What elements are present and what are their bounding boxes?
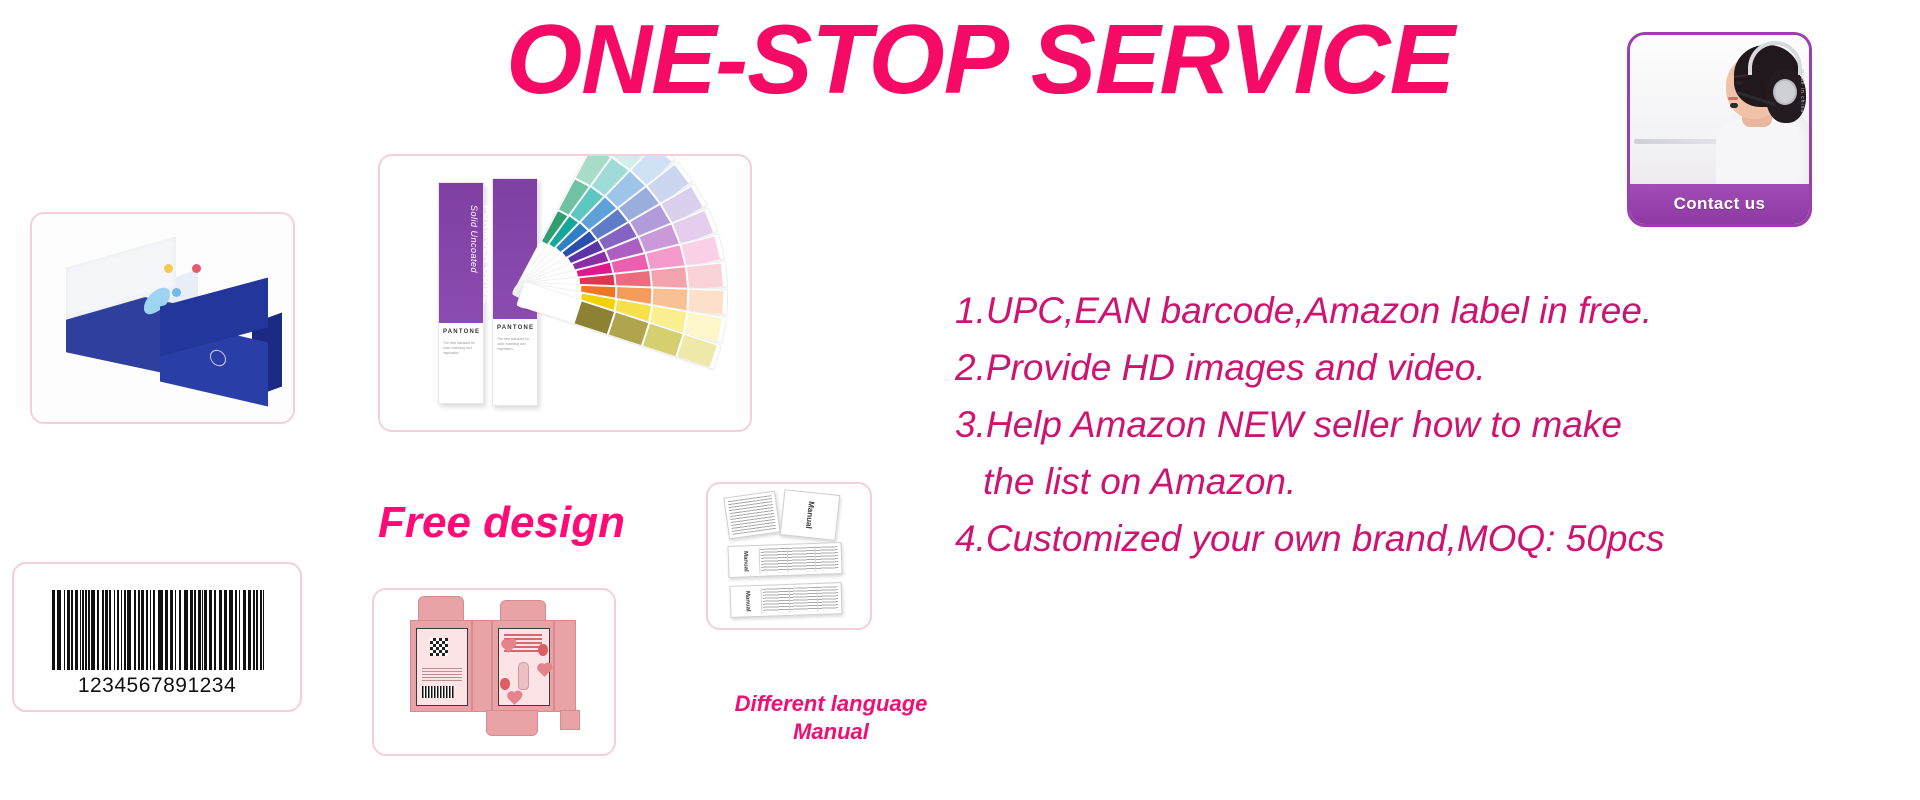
service-item-2: 2.Provide HD images and video. <box>955 349 1835 386</box>
manual-cover-label: Manual <box>804 501 816 529</box>
agent-lips <box>1728 97 1738 100</box>
manual-open-page <box>723 491 780 540</box>
manual-caption-line-1: Different language <box>706 690 956 718</box>
dieline-artwork <box>374 590 614 754</box>
dieline-side-panel-2 <box>554 620 576 712</box>
guide-subtitle-text: Solid Coated <box>413 209 426 345</box>
barcode-number: 1234567891234 <box>14 674 300 698</box>
contact-us-label: Contact us <box>1674 194 1766 214</box>
barcode-label-card: 1234567891234 <box>12 562 302 712</box>
service-item-4: 4.Customized your own brand,MOQ: 50pcs <box>955 520 1835 557</box>
service-list: 1.UPC,EAN barcode,Amazon label in free. … <box>955 292 1835 577</box>
dieline-top-flap-2 <box>500 600 546 622</box>
contact-us-card[interactable]: made in china Contact us <box>1627 32 1812 227</box>
qr-code-icon <box>430 638 448 656</box>
manual-photo-card: Manual Manual Manual <box>706 482 872 630</box>
contact-us-button[interactable]: Contact us <box>1630 184 1809 224</box>
dieline-side-panel <box>472 620 492 712</box>
box-badge-blue-icon <box>172 288 181 297</box>
agent-eye <box>1734 81 1743 85</box>
page-title: ONE-STOP SERVICE <box>500 8 1460 111</box>
pantone-fan-deck <box>520 170 750 420</box>
strawberry-icon <box>500 678 510 690</box>
barcode-graphic <box>52 590 266 670</box>
pantone-photo: FORMULA GUIDE Solid Coated PANTONE The n… <box>380 156 750 430</box>
guide-title-uncoated: FORMULA GUIDE Solid Uncoated <box>449 201 493 341</box>
box-badge-yellow-icon <box>164 264 173 273</box>
manual-cover: Manual <box>780 489 841 541</box>
manual-panel-label: Manual <box>744 591 751 612</box>
pantone-guide-card: FORMULA GUIDE Solid Coated PANTONE The n… <box>378 154 752 432</box>
headset-earcup-icon <box>1773 79 1797 105</box>
dieline-barcode-icon <box>422 686 454 698</box>
strawberry-icon <box>538 644 548 656</box>
service-item-3: 3.Help Amazon NEW seller how to make <box>955 406 1835 443</box>
pantone-blurb-coated: The new standard for color matching and … <box>443 341 479 356</box>
service-item-3-continued: the list on Amazon. <box>955 463 1835 500</box>
manual-panel-label: Manual <box>742 551 749 572</box>
guide-title-coated: FORMULA GUIDE Solid Coated <box>395 205 439 345</box>
manual-caption: Different language Manual <box>706 690 956 745</box>
dieline-bottom-flap-2 <box>560 710 580 730</box>
guide-title-text: FORMULA GUIDE <box>427 209 439 308</box>
headset-mic-tip-icon <box>1730 103 1738 108</box>
dieline-top-flap <box>418 596 464 622</box>
dieline-bottom-flap <box>486 710 538 736</box>
manual-folded-1: Manual <box>727 542 842 578</box>
dieline-legal-text <box>422 668 462 682</box>
support-agent-photo: made in china <box>1630 35 1809 185</box>
manual-folded-2: Manual <box>729 582 842 618</box>
product-box-photo-card <box>30 212 295 424</box>
guide-title-text: FORMULA GUIDE <box>481 205 493 304</box>
dieline-product-icon <box>518 662 529 690</box>
box-photo <box>32 214 293 422</box>
photo-watermark: made in china <box>1799 69 1805 113</box>
free-design-label: Free design <box>378 498 625 548</box>
service-item-1: 1.UPC,EAN barcode,Amazon label in free. <box>955 292 1835 329</box>
guide-subtitle-text: Solid Uncoated <box>467 205 480 341</box>
dieline-template-card <box>372 588 616 756</box>
box-badge-red-icon <box>192 264 201 273</box>
manual-caption-line-2: Manual <box>706 718 956 746</box>
poster-stage: ONE-STOP SERVICE <box>0 0 1920 800</box>
manual-photo: Manual Manual Manual <box>708 484 870 628</box>
